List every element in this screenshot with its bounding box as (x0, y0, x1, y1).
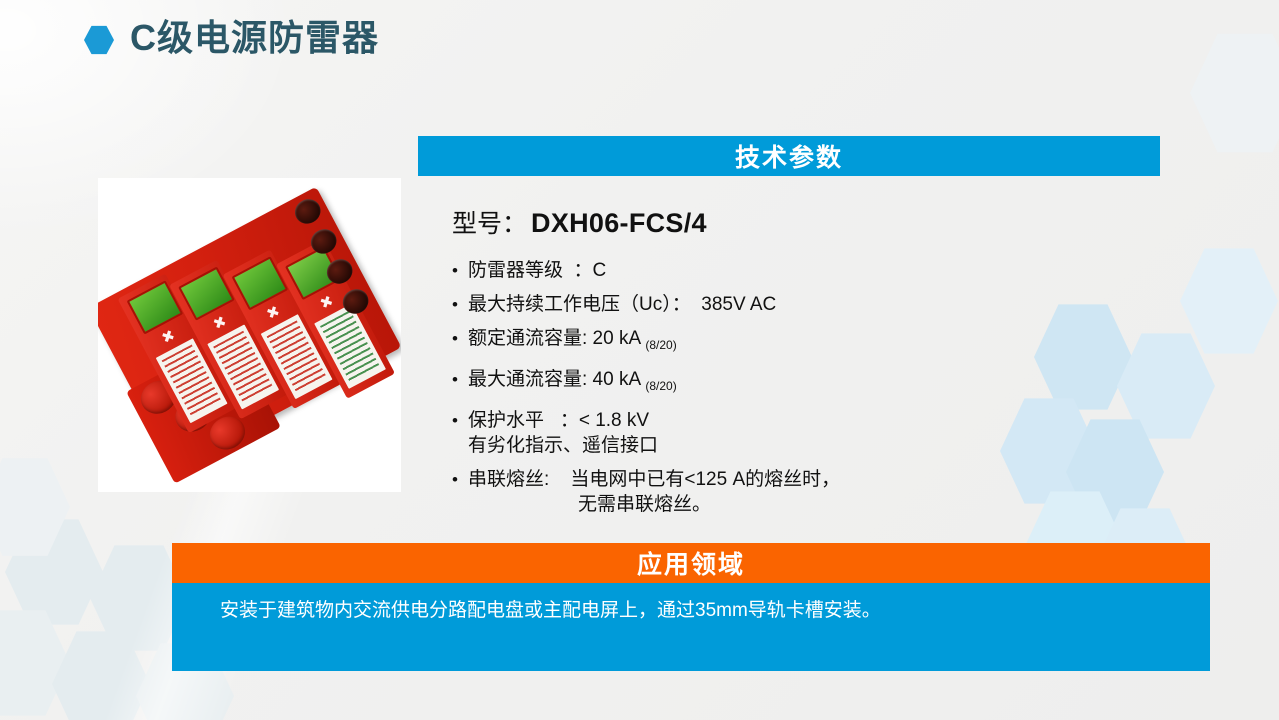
spec-line: 额定通流容量: 20 kA (8/20) (468, 328, 677, 349)
spec-text: 串联熔丝: 当电网中已有<125 A的熔丝时， 无需串联熔丝。 (468, 467, 1152, 517)
spec-item: • 防雷器等级 ：C (452, 258, 1152, 283)
spec-text: 最大持续工作电压（Uc）： 385V AC (468, 292, 1152, 317)
spec-text: 保护水平 ：< 1.8 kV 有劣化指示、遥信接口 (468, 408, 1152, 458)
page-title-row: C级电源防雷器 (84, 20, 379, 56)
model-label: 型号： (452, 204, 527, 240)
model-line: 型号： DXH06-FCS/4 (452, 204, 707, 240)
decor-hexagon (0, 455, 70, 559)
spec-line: 无需串联熔丝。 (468, 492, 1152, 517)
spec-text: 额定通流容量: 20 kA (8/20) (468, 326, 1152, 358)
spec-list: • 防雷器等级 ：C • 最大持续工作电压（Uc）： 385V AC • 额定通… (452, 258, 1152, 526)
spec-item: • 额定通流容量: 20 kA (8/20) (452, 326, 1152, 358)
application-text: 安装于建筑物内交流供电分路配电盘或主配电屏上，通过35mm导轨卡槽安装。 (220, 598, 1190, 625)
bullet-icon: • (452, 326, 468, 351)
spec-line-main: 最大通流容量: 40 kA (468, 369, 645, 390)
spec-subscript: (8/20) (645, 338, 676, 352)
spec-line: 串联熔丝: 当电网中已有<125 A的熔丝时， (468, 467, 1152, 492)
spd-device-illustration: ✖ ✖ ✖ ✖ (98, 186, 401, 485)
slide-canvas: C级电源防雷器 ✖ ✖ ✖ (0, 0, 1279, 720)
spec-item: • 最大通流容量: 40 kA (8/20) (452, 367, 1152, 399)
decor-hexagon (0, 607, 70, 719)
page-title: C级电源防雷器 (130, 20, 379, 56)
spec-subscript: (8/20) (645, 379, 676, 393)
spec-line: 保护水平 ：< 1.8 kV (468, 408, 1152, 433)
spec-line-main: 额定通流容量: 20 kA (468, 328, 645, 349)
decor-hexagon (52, 628, 150, 720)
decor-hexagon (5, 516, 103, 628)
bullet-icon: • (452, 408, 468, 433)
spec-item: • 保护水平 ：< 1.8 kV 有劣化指示、遥信接口 (452, 408, 1152, 458)
spec-line: 有劣化指示、遥信接口 (468, 433, 1152, 458)
spec-item: • 串联熔丝: 当电网中已有<125 A的熔丝时， 无需串联熔丝。 (452, 467, 1152, 517)
spec-line: 最大通流容量: 40 kA (8/20) (468, 369, 677, 390)
decor-hexagon (1190, 30, 1279, 156)
spec-text: 防雷器等级 ：C (468, 258, 1152, 283)
application-header: 应用领域 (172, 543, 1210, 583)
product-image: ✖ ✖ ✖ ✖ (98, 178, 401, 492)
bullet-icon: • (452, 467, 468, 492)
spec-text: 最大通流容量: 40 kA (8/20) (468, 367, 1152, 399)
spec-line: 最大持续工作电压（Uc）： 385V AC (468, 294, 776, 315)
application-body: 安装于建筑物内交流供电分路配电盘或主配电屏上，通过35mm导轨卡槽安装。 (172, 583, 1210, 671)
spec-item: • 最大持续工作电压（Uc）： 385V AC (452, 292, 1152, 317)
spec-line: 防雷器等级 ：C (468, 260, 606, 281)
tech-params-header: 技术参数 (418, 136, 1160, 176)
hexagon-icon (84, 25, 114, 55)
model-value: DXH06-FCS/4 (531, 208, 707, 239)
bullet-icon: • (452, 292, 468, 317)
bullet-icon: • (452, 258, 468, 283)
bullet-icon: • (452, 367, 468, 392)
decor-hexagon (1180, 245, 1278, 357)
